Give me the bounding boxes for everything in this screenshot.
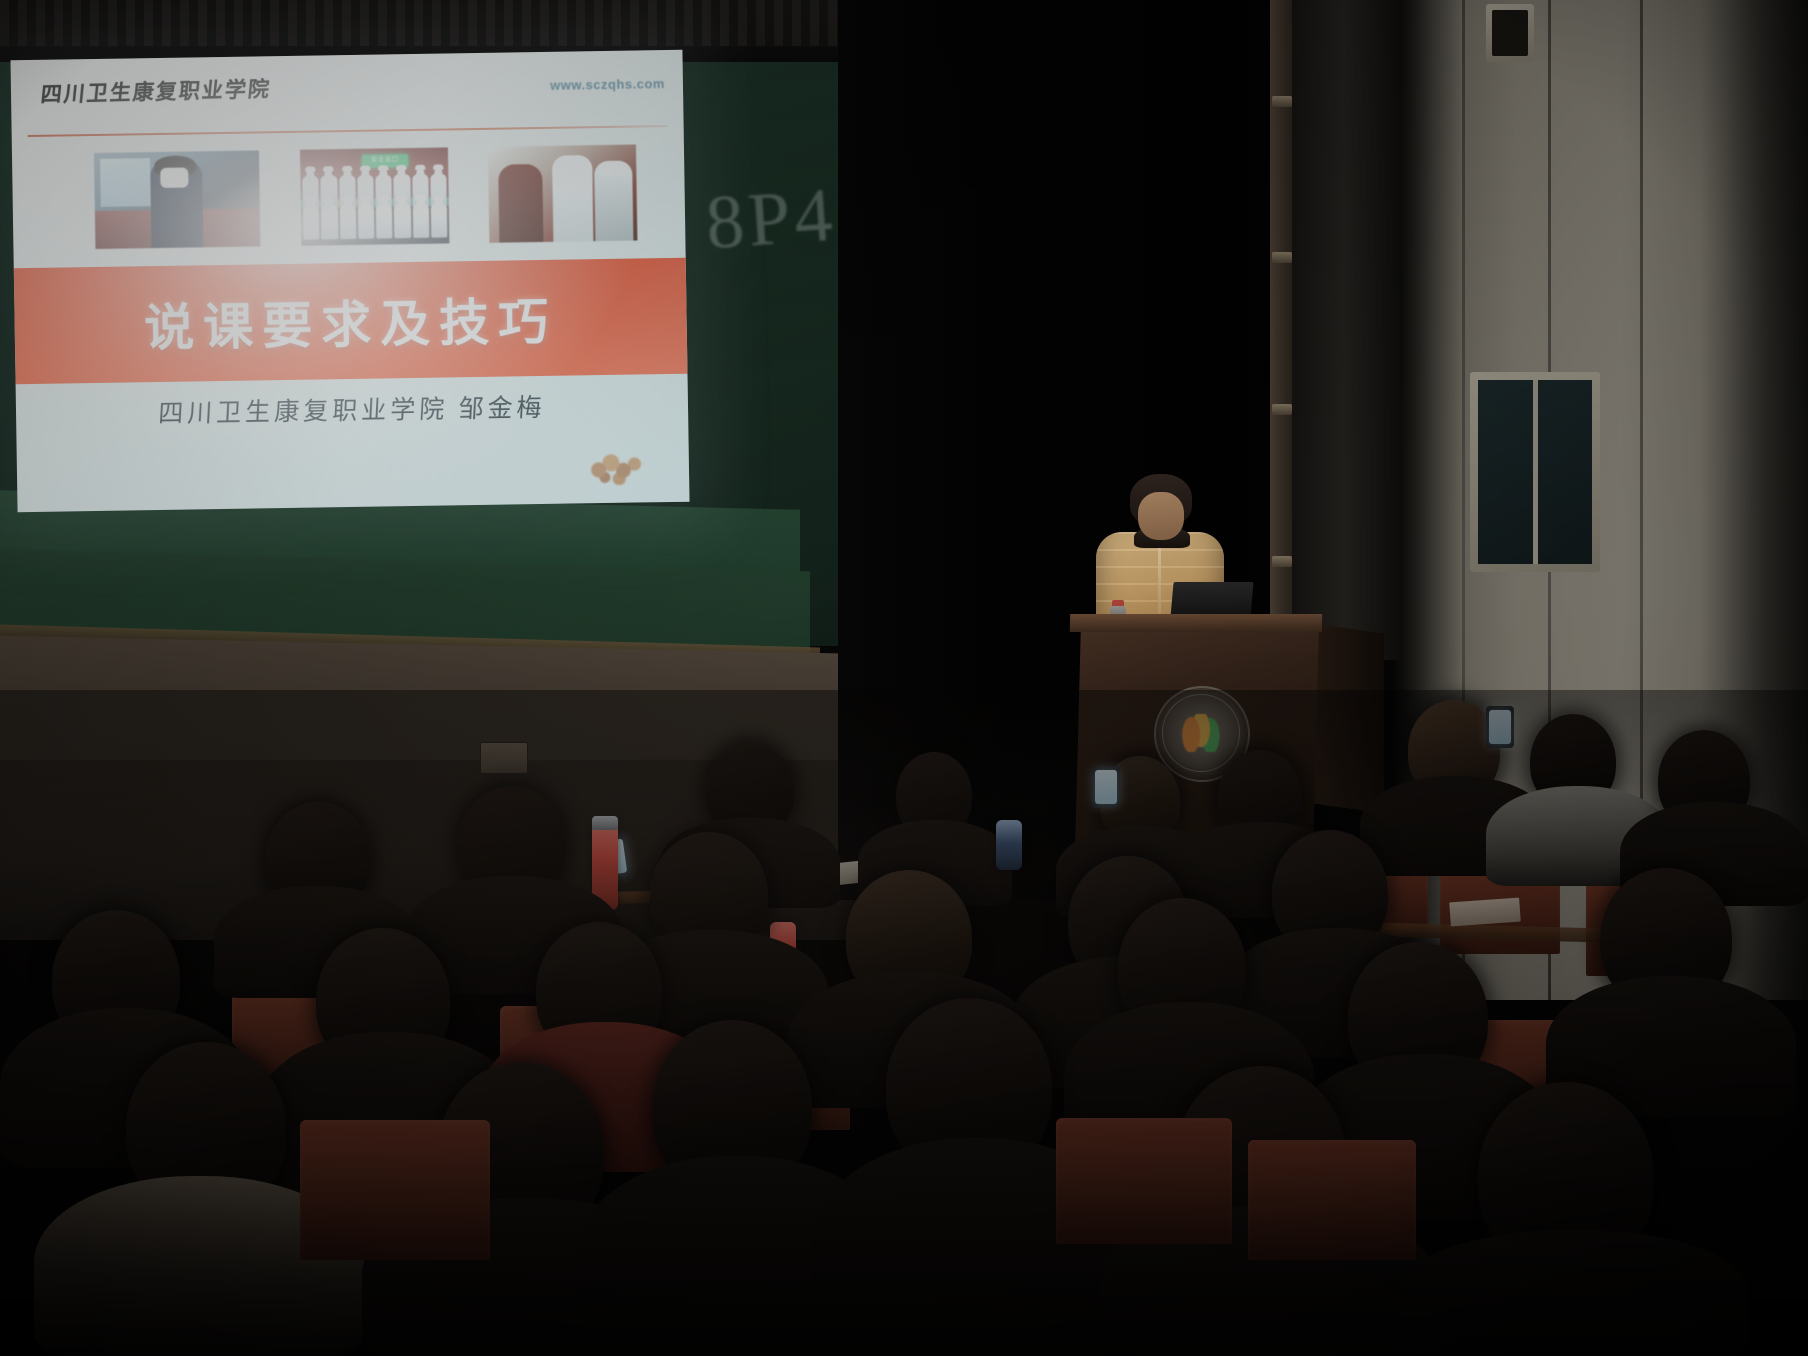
door-hinge-1 [1272,96,1292,107]
pillar-groove-1 [1462,0,1465,1000]
photo-person-b [552,155,593,242]
slide-photo-strip: 安全出口 [12,138,686,259]
lecture-hall-scene: 8P4 四川卫生康复职业学院 www.sczqhs.com 安全出口 [0,0,1808,1356]
photo-nurse-cap-2 [602,165,624,175]
slide-title-band: 说课要求及技巧 [14,258,688,385]
slide-header: 四川卫生康复职业学院 www.sczqhs.com [10,50,683,139]
photo-person-c [594,161,633,242]
pillar-right-shadow [1700,0,1808,1000]
door-hinge-2 [1272,252,1292,263]
photo-nurse-cap [561,159,583,169]
pillar-shadow [1392,0,1462,1000]
photo-window [100,158,151,207]
podium-top-surface [1070,614,1322,632]
slide-subtitle: 四川卫生康复职业学院 邹金梅 [15,386,689,433]
photo-student-row-front [303,203,448,239]
clinical-care-photo [94,150,260,249]
ward-practice-photo [488,144,637,242]
photo-person-a [498,164,543,243]
door-hinge-4 [1272,556,1292,567]
wall-switch-plate [1486,4,1534,62]
door-hinge-3 [1272,404,1292,415]
slide-surface: 四川卫生康复职业学院 www.sczqhs.com 安全出口 [10,50,689,512]
side-doorway [1288,0,1400,660]
nursing-class-group-photo: 安全出口 [300,147,449,245]
pillar-groove-3 [1640,0,1643,1000]
slide-url: www.sczqhs.com [550,76,665,93]
slide-flower-decoration [585,446,648,485]
presenter-face [1138,492,1184,540]
crest-leaf-icon [1178,714,1222,752]
wall-baseboard [0,760,900,940]
slide-title: 说课要求及技巧 [14,258,688,385]
ceiling-slats [0,0,980,46]
photo-face-mask [160,168,188,188]
slide-org-name: 四川卫生康复职业学院 [39,73,272,109]
presenter-laptop [1170,582,1253,618]
wall-socket [480,742,528,774]
projection-screen: 四川卫生康复职业学院 www.sczqhs.com 安全出口 [10,50,689,512]
chalk-writing: 8P4 [703,172,839,268]
side-window-mullion [1533,380,1538,564]
